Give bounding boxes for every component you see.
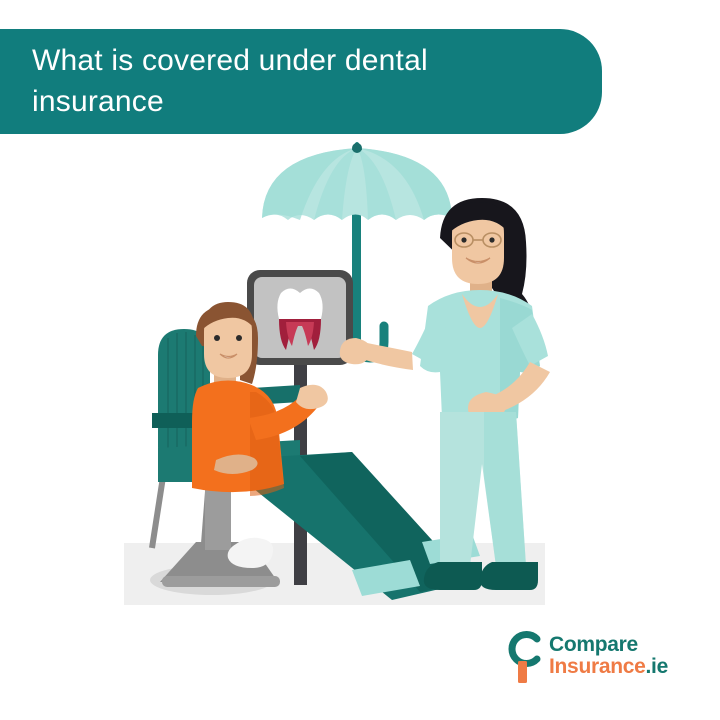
patient-hand	[296, 385, 328, 409]
brand-logo[interactable]: Compare Insurance.ie	[503, 627, 693, 685]
dentist-shoe-right	[480, 562, 538, 590]
page-title: What is covered under dental insurance	[0, 41, 602, 122]
dentist-eye-left	[461, 237, 466, 242]
dentist-trousers-shade	[484, 412, 526, 566]
logo-c-mark-icon	[503, 628, 545, 684]
patient-eye-right	[236, 335, 242, 341]
dental-illustration	[0, 130, 720, 630]
logo-line-compare: Compare	[549, 634, 668, 656]
logo-tld: .ie	[646, 655, 668, 678]
logo-wordmark: Compare Insurance.ie	[549, 634, 668, 679]
logo-c-arc	[512, 635, 537, 664]
logo-orange-bar	[518, 661, 527, 683]
logo-line-insurance: Insurance.ie	[549, 656, 668, 678]
patient-eye-left	[214, 335, 220, 341]
dentist-eye-right	[489, 237, 494, 242]
logo-insurance-word: Insurance	[549, 655, 646, 678]
dentist-shoe-left	[424, 562, 482, 590]
infographic-canvas: What is covered under dental insurance	[0, 0, 720, 720]
chair-base-foot	[162, 576, 280, 587]
title-banner: What is covered under dental insurance	[0, 29, 602, 134]
dentist-hand-left	[340, 338, 371, 364]
umbrella-tip	[352, 143, 362, 153]
tooth-crown	[277, 289, 322, 320]
